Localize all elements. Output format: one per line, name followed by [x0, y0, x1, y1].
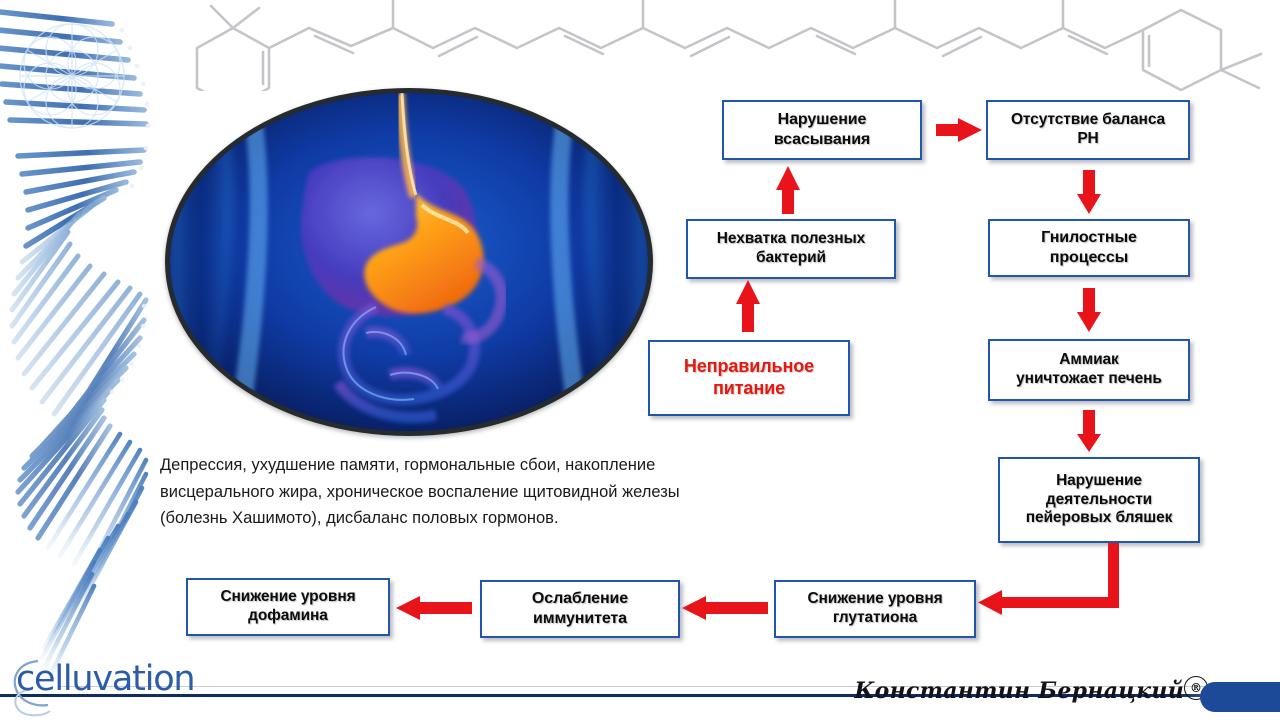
flow-box-line: процессы	[1050, 249, 1128, 266]
flow-box-line: иммунитета	[533, 610, 627, 627]
flow-box-line: Снижение уровня	[807, 590, 942, 607]
flow-box-line: Нарушение	[1056, 472, 1142, 489]
flow-box-line: Ослабление	[532, 590, 628, 607]
flow-box-line: пейеровых бляшек	[1026, 509, 1173, 526]
flow-box-line: Нарушение	[778, 111, 867, 128]
arrow-right-absorption-to-ph	[936, 118, 982, 142]
flow-box-line: Отсутствие баланса	[1011, 111, 1165, 128]
arrow-down-ph-to-putrefaction	[1077, 170, 1101, 214]
flow-box-oslablenie-immuniteta[interactable]: Ослабление иммунитета	[480, 580, 680, 638]
flow-box-peyerovy-blyashki[interactable]: Нарушение деятельности пейеровых бляшек	[998, 457, 1200, 543]
arrow-down-putrefaction-to-ammonia	[1077, 288, 1101, 332]
arrow-up-bacteria-to-absorption	[776, 166, 800, 214]
flow-box-line: уничтожает печень	[1016, 370, 1162, 387]
arrow-left-immunity-to-dopamine	[396, 596, 472, 620]
flower-of-life-icon	[20, 24, 124, 128]
flow-box-line: Аммиак	[1059, 351, 1118, 368]
arrow-down-ammonia-to-peyer	[1077, 410, 1101, 452]
arrow-elbow-peyer-to-glutathione	[978, 543, 1119, 615]
flow-box-snizhenie-dofamina[interactable]: Снижение уровня дофамина	[186, 578, 390, 636]
flow-box-line: Снижение уровня	[220, 588, 355, 605]
arrow-left-glutathione-to-immunity	[682, 596, 768, 620]
flow-box-line: глутатиона	[833, 609, 917, 626]
flow-box-line: Неправильное	[684, 356, 814, 376]
celluvation-logo: celluvation	[16, 659, 194, 699]
footer-accent-pill	[1200, 682, 1280, 712]
flow-box-line: питание	[713, 378, 785, 398]
flow-box-narushenie-vsasyvaniya[interactable]: Нарушение всасывания	[722, 100, 922, 160]
symptoms-paragraph: Депрессия, ухудшение памяти, гормональны…	[160, 452, 820, 532]
author-signature: Константин Бернацкий	[854, 678, 1184, 704]
flow-box-line: Гнилостные	[1041, 229, 1137, 246]
flow-box-line: Нехватка полезных	[717, 230, 865, 247]
flow-box-gnilostnye-processy[interactable]: Гнилостные процессы	[988, 219, 1190, 277]
dna-helix-icon	[0, 0, 184, 694]
flow-box-nehvatka-bakteriy[interactable]: Нехватка полезных бактерий	[686, 219, 896, 279]
flow-box-line: PH	[1077, 130, 1098, 147]
flow-box-line: дофамина	[248, 607, 328, 624]
beta-carotene-structure-icon	[175, 0, 1280, 91]
stomach-anatomy-illustration	[165, 88, 653, 436]
arrow-up-nutrition-to-bacteria	[736, 280, 760, 332]
slide-canvas: Нарушение всасывания Отсутствие баланса …	[0, 0, 1280, 720]
flow-box-line: бактерий	[756, 249, 826, 266]
flow-box-line: всасывания	[774, 131, 870, 148]
paragraph-line: (болезнь Хашимото), дисбаланс половых го…	[160, 505, 820, 532]
flow-box-line: деятельности	[1046, 491, 1152, 508]
flow-box-ammiak-pechen[interactable]: Аммиак уничтожает печень	[988, 339, 1190, 401]
paragraph-line: висцерального жира, хроническое воспален…	[160, 479, 820, 506]
paragraph-line: Депрессия, ухудшение памяти, гормональны…	[160, 452, 820, 479]
flow-box-nepravilnoe-pitanie[interactable]: Неправильное питание	[648, 340, 850, 416]
flow-box-snizhenie-glutationa[interactable]: Снижение уровня глутатиона	[774, 580, 976, 638]
flow-box-otsutstvie-balansa-ph[interactable]: Отсутствие баланса PH	[986, 100, 1190, 160]
